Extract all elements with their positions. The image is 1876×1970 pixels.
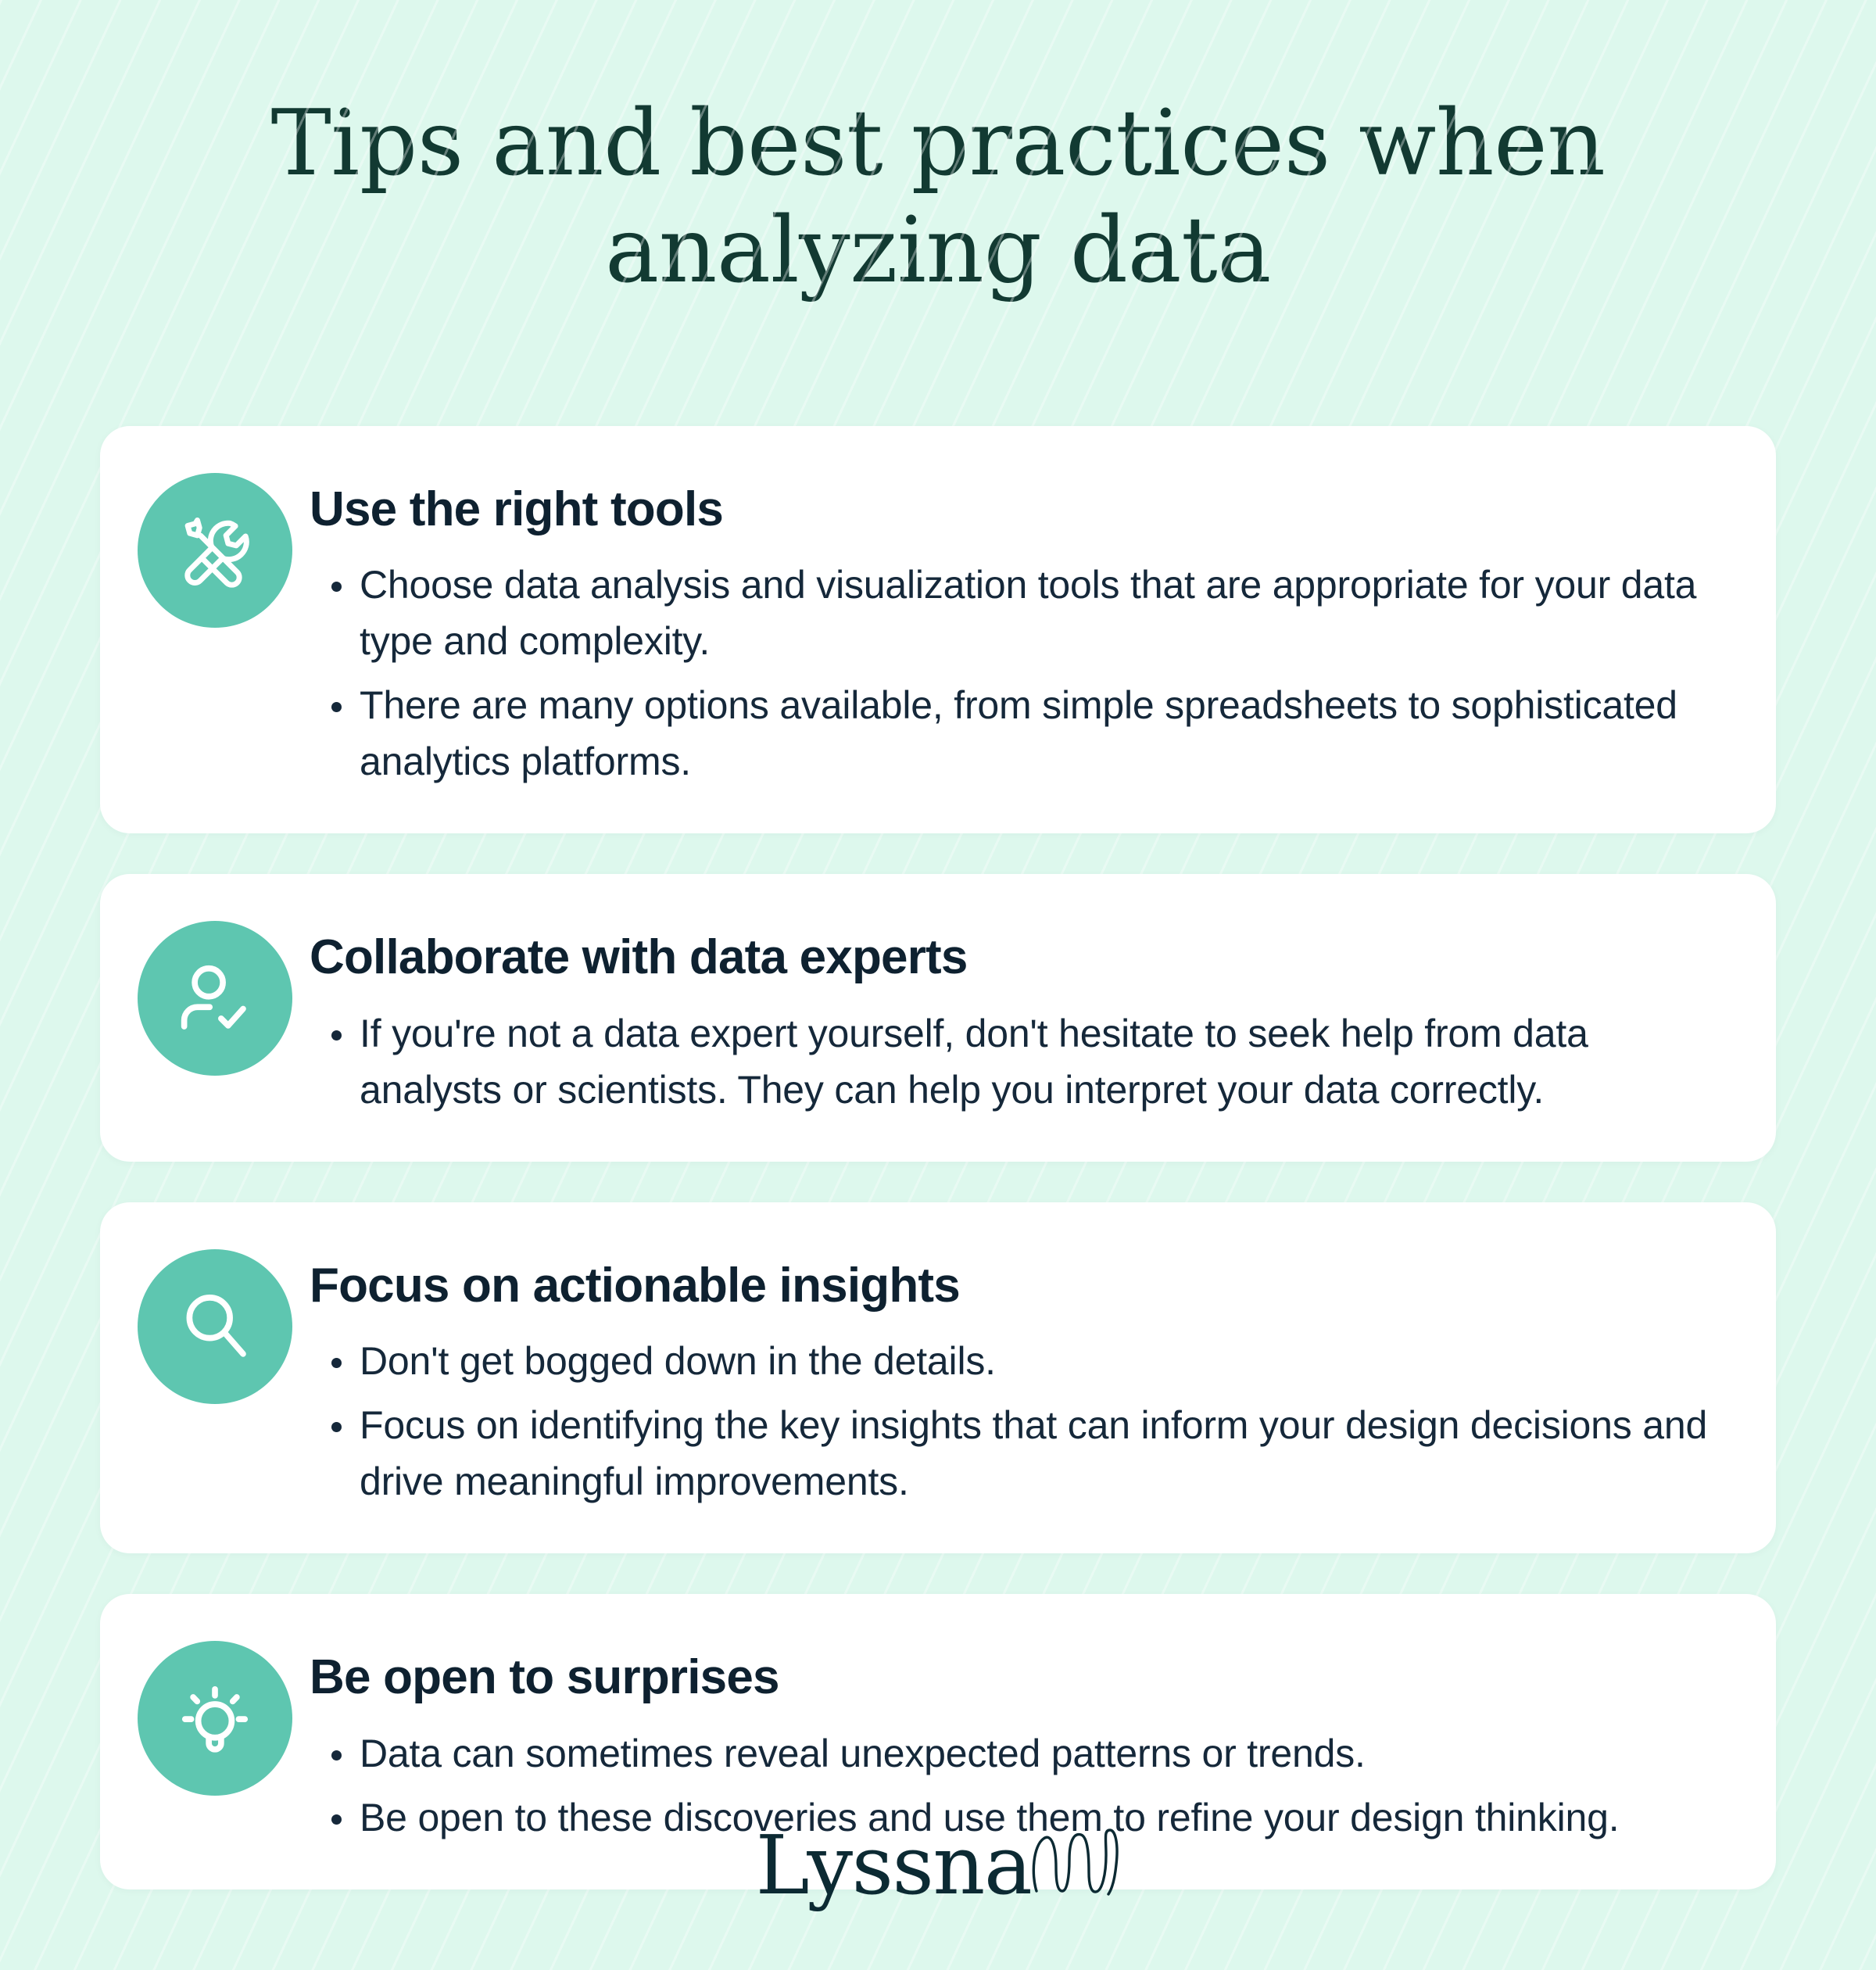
card-heading: Use the right tools — [310, 482, 1732, 536]
tips-card-list: Use the right tools Choose data analysis… — [100, 426, 1776, 1930]
bullet-list: If you're not a data expert yourself, do… — [310, 1005, 1732, 1118]
lyssna-logo: Lyssna — [0, 1825, 1876, 1906]
card-body: Be open to surprises Data can sometimes … — [310, 1633, 1732, 1845]
bullet-item: If you're not a data expert yourself, do… — [310, 1005, 1732, 1118]
logo-wordmark: Lyssna — [756, 1825, 1032, 1906]
page-title: Tips and best practices when analyzing d… — [254, 0, 1622, 305]
card-body: Focus on actionable insights Don't get b… — [310, 1241, 1732, 1510]
card-body: Collaborate with data experts If you're … — [310, 913, 1732, 1117]
tip-card: Use the right tools Choose data analysis… — [100, 426, 1776, 833]
user-check-icon — [138, 921, 292, 1076]
bullet-item: Focus on identifying the key insights th… — [310, 1397, 1732, 1510]
bullet-item: Data can sometimes reveal unexpected pat… — [310, 1725, 1732, 1782]
tip-card: Collaborate with data experts If you're … — [100, 874, 1776, 1161]
bullet-list: Don't get bogged down in the details. Fo… — [310, 1333, 1732, 1510]
magnifier-icon — [138, 1249, 292, 1404]
bullet-item: Don't get bogged down in the details. — [310, 1333, 1732, 1389]
squiggle-mark — [1026, 1825, 1120, 1900]
card-heading: Be open to surprises — [310, 1650, 1732, 1704]
infographic-page: Tips and best practices when analyzing d… — [0, 0, 1876, 1970]
bullet-list: Choose data analysis and visualization t… — [310, 557, 1732, 790]
card-body: Use the right tools Choose data analysis… — [310, 465, 1732, 790]
tools-icon — [138, 473, 292, 628]
card-heading: Collaborate with data experts — [310, 930, 1732, 984]
bullet-item: Choose data analysis and visualization t… — [310, 557, 1732, 669]
tip-card: Focus on actionable insights Don't get b… — [100, 1202, 1776, 1553]
lightbulb-icon — [138, 1641, 292, 1796]
card-heading: Focus on actionable insights — [310, 1259, 1732, 1313]
bullet-item: There are many options available, from s… — [310, 677, 1732, 790]
